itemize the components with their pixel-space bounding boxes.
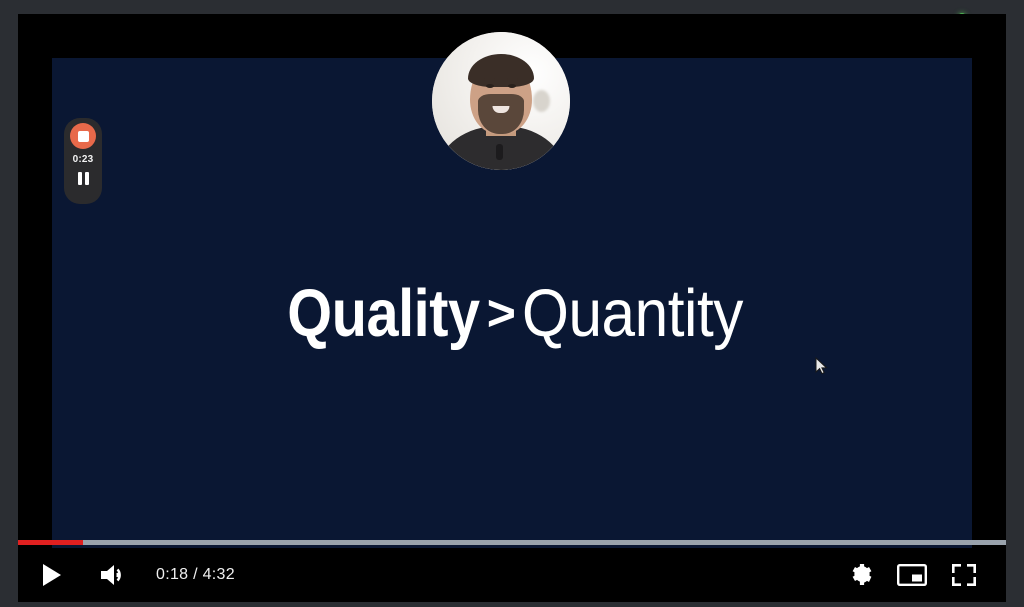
stop-square-icon <box>78 131 89 142</box>
presenter-eyebrow-right <box>507 78 518 81</box>
headline-word-strong: Quality <box>287 280 479 347</box>
stop-recording-button[interactable] <box>70 123 96 149</box>
presenter-webcam-bubble <box>432 32 570 170</box>
time-display: 0:18 / 4:32 <box>156 566 235 584</box>
fullscreen-button[interactable] <box>938 548 990 602</box>
headline-comparator-icon: > <box>480 288 523 338</box>
volume-icon <box>99 562 129 588</box>
pause-bar-right <box>85 172 89 185</box>
pause-bar-left <box>78 172 82 185</box>
presenter-eyebrow-left <box>484 78 495 81</box>
pause-recording-button[interactable] <box>78 172 89 185</box>
play-icon <box>41 563 63 587</box>
volume-button[interactable] <box>90 548 138 602</box>
video-player[interactable]: Quality>Quantity 0:23 <box>18 14 1006 602</box>
slide-headline: Quality>Quantity <box>52 280 972 347</box>
player-control-bar: 0:18 / 4:32 <box>18 548 1006 602</box>
screen-recorder-widget[interactable]: 0:23 <box>64 118 102 204</box>
presenter-lapel-mic <box>496 144 503 160</box>
miniplayer-icon <box>897 563 927 587</box>
recording-elapsed-time: 0:23 <box>73 154 94 165</box>
presenter-eye-right <box>508 84 516 88</box>
fullscreen-icon <box>951 563 977 587</box>
presenter-eye-left <box>486 84 494 88</box>
application-window: Quality>Quantity 0:23 <box>0 0 1024 607</box>
gear-icon <box>849 562 875 588</box>
headline-word-light: Quantity <box>522 280 743 347</box>
settings-button[interactable] <box>838 548 886 602</box>
miniplayer-button[interactable] <box>886 548 938 602</box>
play-button[interactable] <box>26 548 78 602</box>
progress-played <box>18 540 83 545</box>
webcam-wall-spot <box>533 90 550 112</box>
progress-bar[interactable] <box>18 540 1006 545</box>
